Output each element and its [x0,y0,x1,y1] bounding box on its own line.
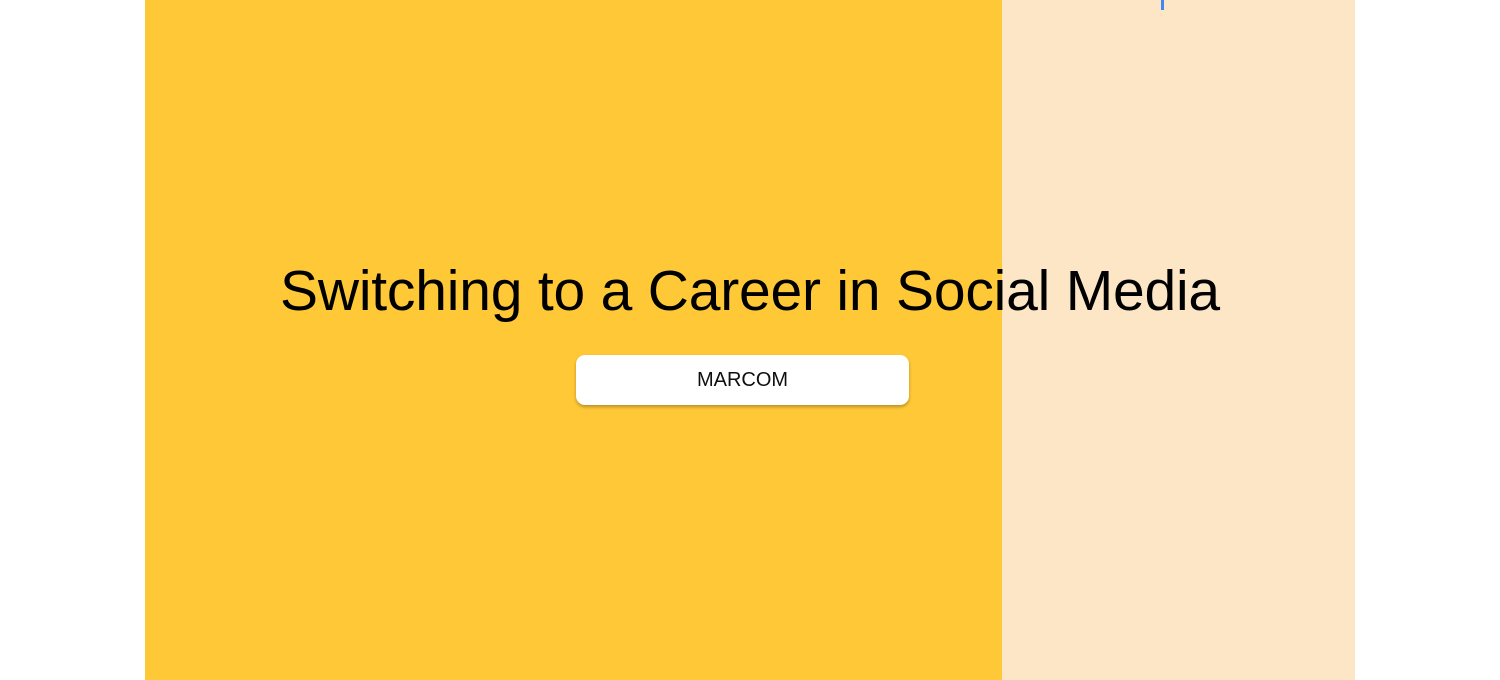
slide-content: Switching to a Career in Social Media MA… [145,0,1355,680]
marcom-button[interactable]: MARCOM [576,355,909,405]
slide-canvas: Switching to a Career in Social Media MA… [0,0,1500,680]
cta-container: MARCOM [145,355,1340,405]
page-title: Switching to a Career in Social Media [145,253,1355,329]
